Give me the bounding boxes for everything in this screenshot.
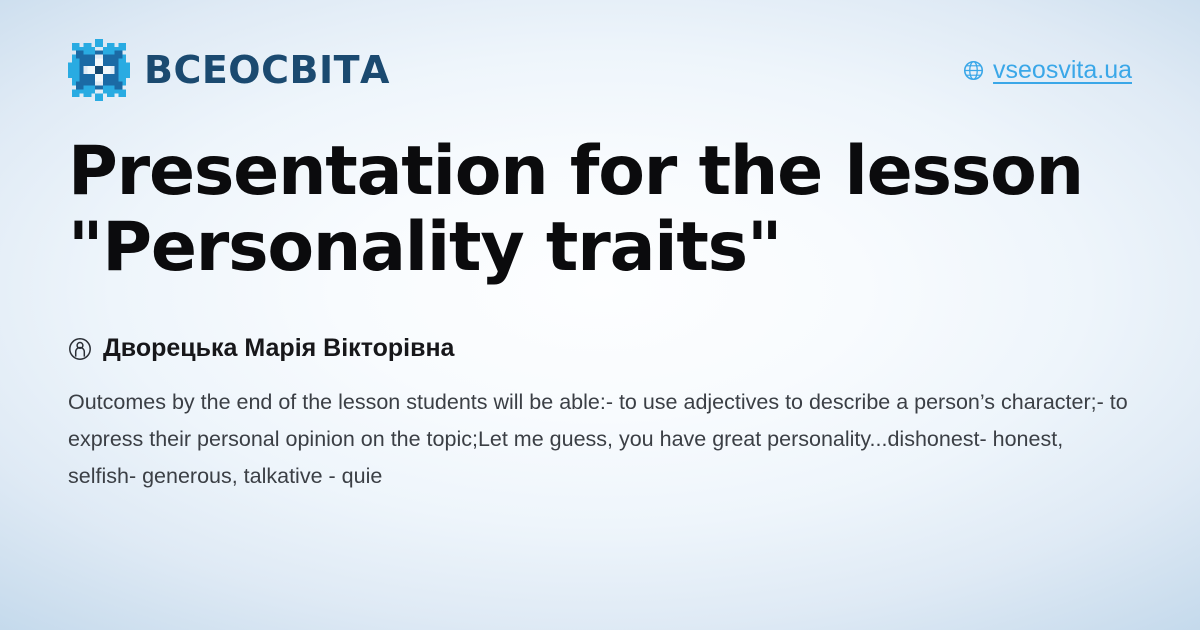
description-text: Outcomes by the end of the lesson studen…: [68, 384, 1128, 495]
author-line: Дворецька Марія Вікторівна: [68, 334, 1132, 363]
page-header: ВСЕОСВІТА vseosvita.ua: [68, 0, 1132, 140]
vseosvita-ornament-logo-icon: [68, 39, 130, 101]
page-title: Presentation for the lesson "Personality…: [68, 134, 1132, 286]
globe-icon: [963, 60, 984, 81]
site-url-link[interactable]: vseosvita.ua: [963, 56, 1132, 85]
site-url-text: vseosvita.ua: [993, 56, 1132, 85]
brand[interactable]: ВСЕОСВІТА: [68, 39, 390, 101]
preview-card: ВСЕОСВІТА vseosvita.ua Presentation for …: [0, 0, 1200, 630]
author-name: Дворецька Марія Вікторівна: [103, 334, 454, 363]
user-circle-icon: [68, 337, 92, 361]
brand-name: ВСЕОСВІТА: [144, 51, 390, 89]
